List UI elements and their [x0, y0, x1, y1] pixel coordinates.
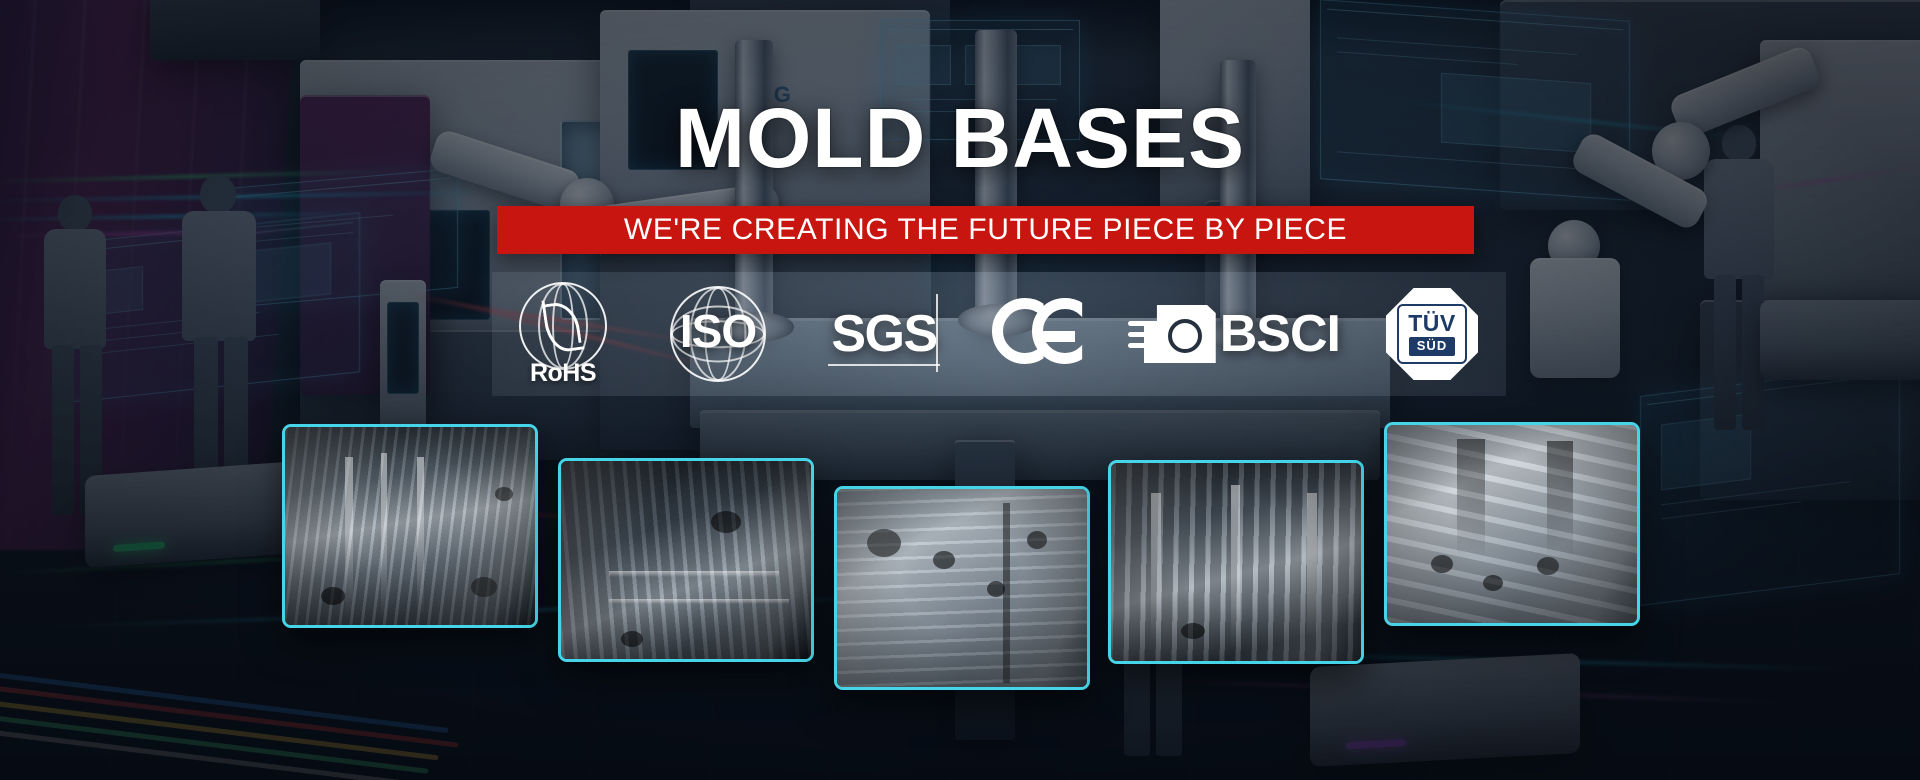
product-card-3[interactable]	[834, 486, 1090, 690]
cert-iso: ISO	[656, 282, 780, 386]
ce-e-glyph-icon	[1032, 298, 1098, 364]
page-title: MOLD BASES	[0, 96, 1920, 180]
product-card-4[interactable]	[1108, 460, 1364, 664]
rohs-leaf-icon	[541, 296, 584, 354]
product-card-1[interactable]	[282, 424, 538, 628]
cert-ce	[988, 282, 1104, 386]
bsci-mark-icon	[1144, 305, 1216, 363]
product-card-2[interactable]	[558, 458, 814, 662]
cert-sgs-label: SGS	[831, 304, 936, 364]
product-card-5[interactable]	[1384, 422, 1640, 626]
cert-tuv-label-top: TÜV	[1408, 312, 1456, 335]
cert-tuv-label-bottom: SÜD	[1409, 337, 1455, 355]
hero-banner: CNC CNG	[0, 0, 1920, 780]
cert-rohs: RoHS	[510, 282, 616, 386]
certification-strip: RoHS ISO SGS	[492, 272, 1506, 396]
cert-rohs-label: RoHS	[510, 359, 616, 388]
sgs-underline-icon	[828, 364, 940, 366]
tagline-banner: WE'RE CREATING THE FUTURE PIECE BY PIECE	[497, 206, 1474, 254]
cert-bsci-label: BSCI	[1220, 304, 1340, 364]
sgs-vertical-rule-icon	[936, 294, 938, 372]
cert-tuv-sud: TÜV SÜD	[1380, 282, 1488, 386]
cert-bsci: BSCI	[1144, 282, 1340, 386]
tagline-text: WE'RE CREATING THE FUTURE PIECE BY PIECE	[624, 213, 1347, 247]
cert-sgs: SGS	[820, 282, 948, 386]
cert-iso-label: ISO	[656, 308, 780, 354]
tuv-octagon-icon: TÜV SÜD	[1386, 288, 1478, 380]
